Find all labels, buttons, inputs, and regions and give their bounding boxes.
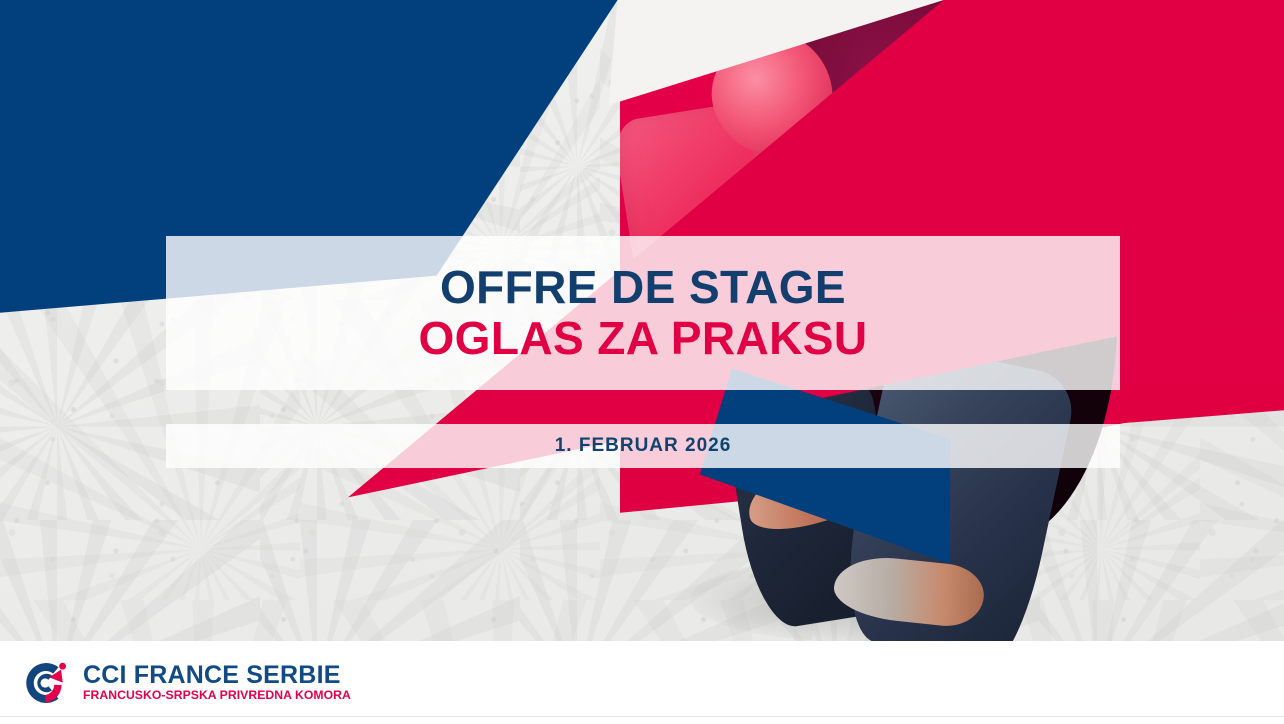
event-date: 1. FEBRUAR 2026	[555, 435, 732, 457]
headline-group: OFFRE DE STAGE OGLAS ZA PRAKSU	[166, 236, 1120, 390]
brand-text-block: CCI FRANCE SERBIE FRANCUSKO-SRPSKA PRIVR…	[83, 663, 351, 701]
date-group: 1. FEBRUAR 2026	[166, 424, 1120, 468]
announcement-slide: OFFRE DE STAGE OGLAS ZA PRAKSU 1. FEBRUA…	[0, 0, 1284, 724]
footer-divider	[0, 716, 1284, 717]
brand-tagline: FRANCUSKO-SRPSKA PRIVREDNA KOMORA	[83, 689, 351, 701]
title-french: OFFRE DE STAGE	[440, 263, 846, 312]
brand-name: CCI FRANCE SERBIE	[83, 663, 351, 688]
title-serbian: OGLAS ZA PRAKSU	[419, 314, 868, 363]
brand-lockup[interactable]: CCI FRANCE SERBIE FRANCUSKO-SRPSKA PRIVR…	[18, 657, 351, 709]
cci-circle-c-logo-icon	[18, 657, 70, 709]
footer-bar: CCI FRANCE SERBIE FRANCUSKO-SRPSKA PRIVR…	[0, 641, 1284, 724]
